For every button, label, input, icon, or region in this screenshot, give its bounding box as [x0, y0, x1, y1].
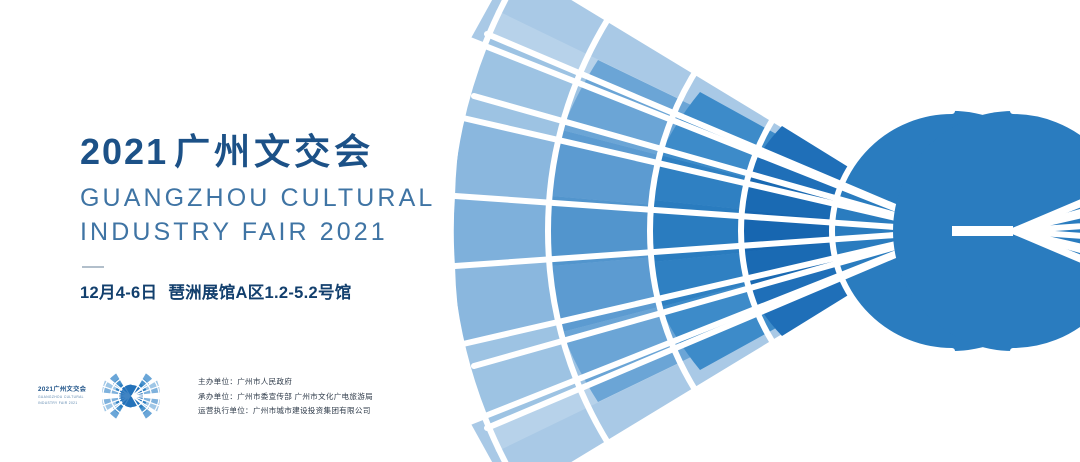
fan-right-wing: [893, 0, 1080, 462]
credit-line-organizer: 主办单位：广州市人民政府: [198, 375, 373, 390]
page-title-en-line1: GUANGZHOU CULTURAL: [80, 182, 500, 215]
divider-rule: [82, 266, 104, 268]
page-title-cn: 2021广州文交会: [80, 131, 500, 173]
footer-block: 2021广州文交会 GUANGZHOU CULTURAL INDUSTRY FA…: [38, 362, 373, 430]
brand-logo-title-en-line1: GUANGZHOU CULTURAL: [38, 395, 100, 400]
credit-line-cohost: 承办单位：广州市委宣传部 广州市文化广电旅游局: [198, 390, 373, 405]
butterfly-fan-mark-icon: [102, 367, 160, 425]
headline-block: 2021广州文交会 GUANGZHOU CULTURAL INDUSTRY FA…: [80, 131, 500, 303]
brand-logo: 2021广州文交会 GUANGZHOU CULTURAL INDUSTRY FA…: [38, 362, 160, 430]
brand-logo-text: 2021广州文交会 GUANGZHOU CULTURAL INDUSTRY FA…: [38, 386, 100, 407]
brand-logo-title-en-line2: INDUSTRY FAIR 2021: [38, 401, 100, 406]
page-title-en: GUANGZHOU CULTURAL INDUSTRY FAIR 2021: [80, 182, 500, 249]
brand-logo-title-cn: 2021广州文交会: [38, 386, 100, 394]
credit-line-operator: 运营执行单位：广州市城市建设投资集团有限公司: [198, 404, 373, 419]
poster-canvas: 2021广州文交会 GUANGZHOU CULTURAL INDUSTRY FA…: [0, 0, 1080, 462]
page-title-en-line2: INDUSTRY FAIR 2021: [80, 216, 500, 249]
page-title-name: 广州文交会: [174, 131, 374, 172]
fan-left-wing: [449, 0, 1072, 462]
date-venue-line: 12月4-6日琶洲展馆A区1.2-5.2号馆: [80, 279, 500, 303]
page-title-year: 2021: [80, 131, 168, 172]
event-venue: 琶洲展馆A区1.2-5.2号馆: [168, 284, 351, 302]
event-date: 12月4-6日: [80, 284, 157, 302]
credits-block: 主办单位：广州市人民政府 承办单位：广州市委宣传部 广州市文化广电旅游局 运营执…: [198, 373, 373, 419]
